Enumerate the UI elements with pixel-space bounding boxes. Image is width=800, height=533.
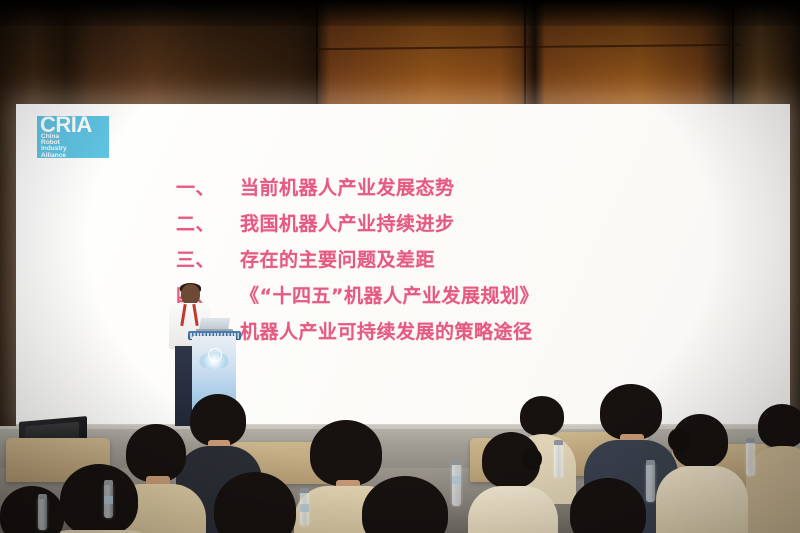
audience-torso	[656, 466, 748, 533]
water-bottle	[452, 464, 461, 506]
bottle-cap	[554, 440, 563, 445]
agenda-item-1: 一、 当前机器人产业发展态势	[176, 170, 776, 206]
agenda-item-4-text: 《“十四五”机器人产业发展规划》	[240, 278, 539, 314]
audience-torso	[468, 486, 558, 533]
cria-logo: CRIA China Robot Industry Alliance	[37, 116, 109, 158]
agenda-item-4: 四、 《“十四五”机器人产业发展规划》	[176, 278, 776, 314]
agenda-item-3: 三、 存在的主要问题及差距	[176, 242, 776, 278]
audience-hair	[0, 486, 64, 533]
audience-hair	[758, 404, 800, 448]
agenda-item-2-number: 二、	[176, 206, 240, 242]
bottle-label	[104, 496, 113, 504]
water-bottle	[38, 498, 47, 530]
bottle-cap	[38, 494, 47, 499]
agenda-item-5-text: 机器人产业可持续发展的策略途径	[240, 314, 533, 350]
agenda-item-2-text: 我国机器人产业持续进步	[240, 206, 455, 242]
agenda-item-3-text: 存在的主要问题及差距	[240, 242, 435, 278]
slide-agenda-list: 一、 当前机器人产业发展态势 二、 我国机器人产业持续进步 三、 存在的主要问题…	[176, 170, 776, 350]
bottle-cap	[104, 480, 113, 485]
bottle-cap	[646, 460, 655, 465]
bottle-label	[300, 504, 309, 512]
ceiling-shadow	[0, 0, 800, 26]
bottle-label	[452, 476, 461, 484]
agenda-item-1-number: 一、	[176, 170, 240, 206]
audience-hair	[190, 394, 246, 446]
audience-area	[0, 380, 800, 533]
projection-screen: CRIA China Robot Industry Alliance 一、 当前…	[16, 104, 790, 426]
water-bottle	[746, 442, 755, 476]
cria-subtitle-line-4: Alliance	[41, 153, 67, 159]
presenter-head	[181, 284, 200, 305]
audience-hair-bun	[668, 428, 690, 452]
audience-hair	[126, 424, 186, 482]
agenda-item-1-text: 当前机器人产业发展态势	[240, 170, 455, 206]
audience-hair	[520, 396, 564, 436]
audience-hair	[60, 464, 138, 533]
audience-hair-bun	[522, 448, 542, 470]
cria-logo-subtitle: China Robot Industry Alliance	[41, 134, 67, 159]
lectern-emblem-icon	[208, 348, 222, 362]
audience-hair	[362, 476, 448, 533]
agenda-item-5: 机器人产业可持续发展的策略途径	[176, 314, 776, 350]
water-bottle	[646, 464, 655, 502]
bottle-cap	[746, 438, 755, 443]
water-bottle	[554, 444, 563, 478]
audience-hair	[310, 420, 382, 486]
conference-photo-scene: CRIA China Robot Industry Alliance 一、 当前…	[0, 0, 800, 533]
agenda-item-2: 二、 我国机器人产业持续进步	[176, 206, 776, 242]
agenda-item-3-number: 三、	[176, 242, 240, 278]
audience-hair	[600, 384, 662, 440]
bottle-cap	[452, 460, 461, 465]
bottle-cap	[300, 488, 309, 493]
